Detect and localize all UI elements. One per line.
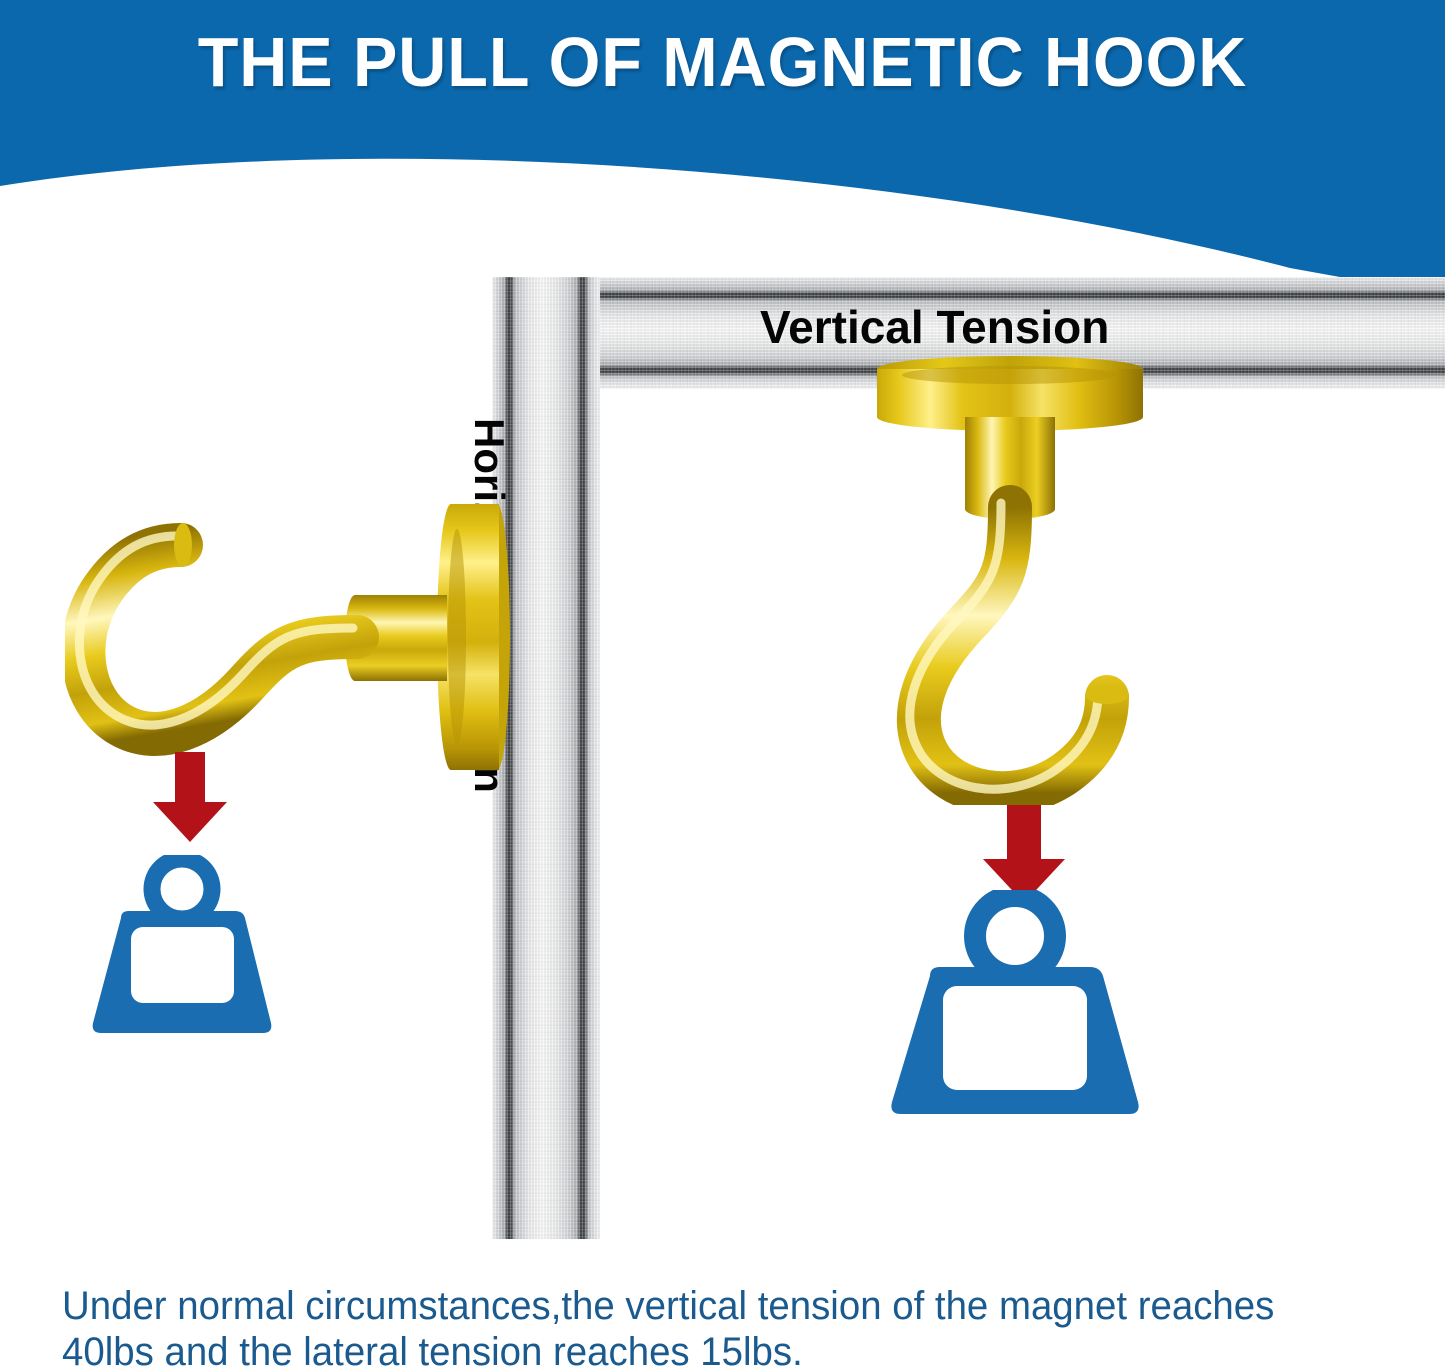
infographic-page: THE PULL OF MAGNETIC HOOK Vertical Tensi… xyxy=(0,0,1445,1370)
weight-icon-40lbs: 40 Lbs xyxy=(870,890,1160,1135)
down-arrow-left xyxy=(145,752,235,849)
weight-shape-15 xyxy=(75,855,290,1045)
gold-magnetic-hook-horizontal xyxy=(65,485,525,790)
weight-plate xyxy=(943,986,1087,1090)
hook-horizontal-graphic xyxy=(65,485,525,785)
weight-icon-15lbs: 15 Lbs xyxy=(75,855,290,1050)
magnet-disc-inner-ring xyxy=(448,529,466,745)
weight-ring xyxy=(975,896,1055,976)
weight-ring xyxy=(152,859,212,919)
arrow-shape xyxy=(983,805,1065,903)
vertical-tension-label: Vertical Tension xyxy=(760,300,1109,354)
hook-vertical-graphic xyxy=(855,355,1165,805)
header-banner: THE PULL OF MAGNETIC HOOK xyxy=(0,0,1445,300)
weight-plate xyxy=(131,927,234,1003)
hook-tip xyxy=(1085,686,1129,704)
hook-tip xyxy=(174,523,192,567)
caption-text: Under normal circumstances,the vertical … xyxy=(62,1283,1348,1370)
arrow-shape xyxy=(153,752,227,842)
down-arrow-icon xyxy=(145,752,235,844)
hook-curve xyxy=(83,545,357,734)
gold-magnetic-hook-vertical xyxy=(855,355,1165,810)
magnet-disc-inner-ring xyxy=(902,366,1118,384)
weight-shape-40 xyxy=(870,890,1160,1130)
page-title: THE PULL OF MAGNETIC HOOK xyxy=(36,26,1409,100)
